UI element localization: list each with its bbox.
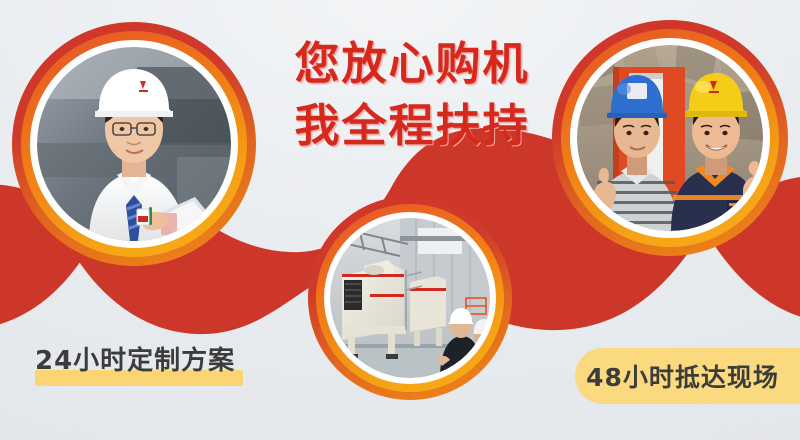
photo-engineer <box>37 47 231 241</box>
photo-machinery <box>330 218 490 378</box>
headline-line-2: 我全程扶持 <box>278 98 546 154</box>
promo-banner: 您放心购机 我全程扶持 24小时定制方案 48小时抵达现场 <box>0 0 800 440</box>
label-24h-custom-plan: 24小时定制方案 <box>35 340 235 377</box>
photo-circle-machinery <box>308 196 512 400</box>
headline: 您放心购机 我全程扶持 <box>278 36 546 154</box>
headline-line-1: 您放心购机 <box>278 36 546 92</box>
photo-circle-engineer <box>12 22 256 266</box>
photo-circle-workers <box>552 20 788 256</box>
label-48h-onsite-pill: 48小时抵达现场 <box>575 348 800 404</box>
photo-workers <box>577 45 763 231</box>
label-24h-custom-plan-text: 24小时定制方案 <box>35 340 235 377</box>
label-48h-onsite-text: 48小时抵达现场 <box>586 358 779 394</box>
